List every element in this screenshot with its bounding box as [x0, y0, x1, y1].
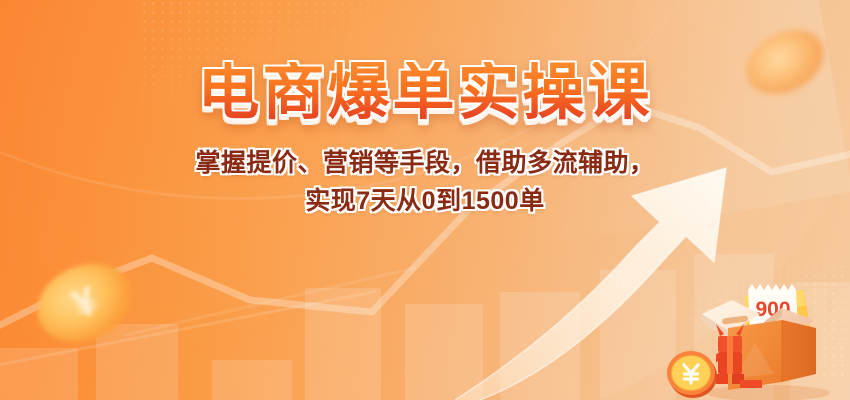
headline-text-block: 电商爆单实操课 掌握提价、营销等手段，借助多流辅助， 实现7天从0到1500单: [0, 0, 850, 400]
subtitle-line-2: 实现7天从0到1500单: [305, 184, 544, 220]
promo-banner: ¥: [0, 0, 850, 400]
page-title: 电商爆单实操课: [197, 62, 652, 124]
subtitle-line-1: 掌握提价、营销等手段，借助多流辅助，: [195, 146, 654, 182]
